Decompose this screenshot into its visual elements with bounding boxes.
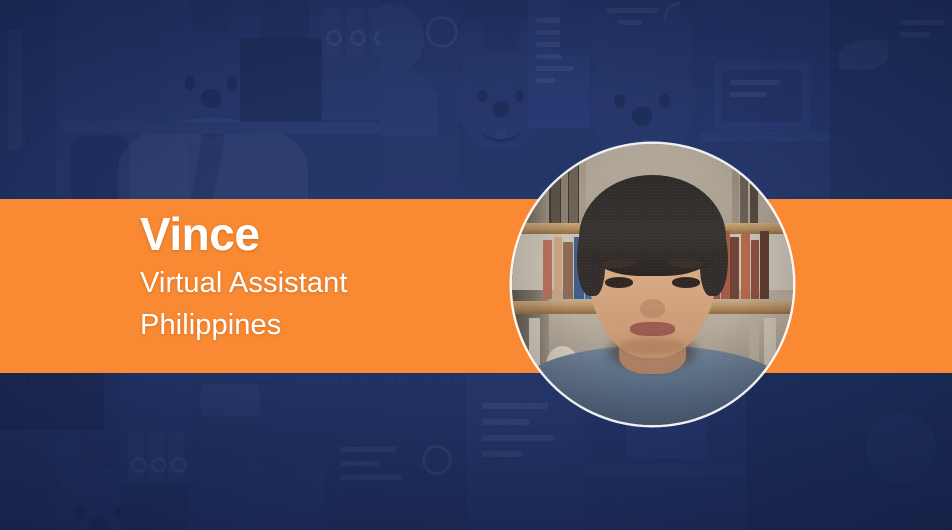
person-mouth	[630, 322, 675, 335]
person-eye-left	[605, 277, 633, 287]
photo-person	[512, 144, 793, 425]
person-hair	[579, 175, 725, 276]
person-eye-right	[672, 277, 700, 287]
profile-name: Vince	[140, 206, 500, 262]
avatar-photo	[512, 144, 793, 425]
avatar	[512, 144, 793, 425]
person-nose	[640, 299, 665, 319]
profile-text-block: Vince Virtual Assistant Philippines	[140, 206, 500, 346]
profile-location: Philippines	[140, 304, 500, 346]
profile-banner: Vince Virtual Assistant Philippines	[0, 0, 952, 530]
profile-role: Virtual Assistant	[140, 262, 500, 304]
person-chin-shadow	[619, 338, 686, 355]
